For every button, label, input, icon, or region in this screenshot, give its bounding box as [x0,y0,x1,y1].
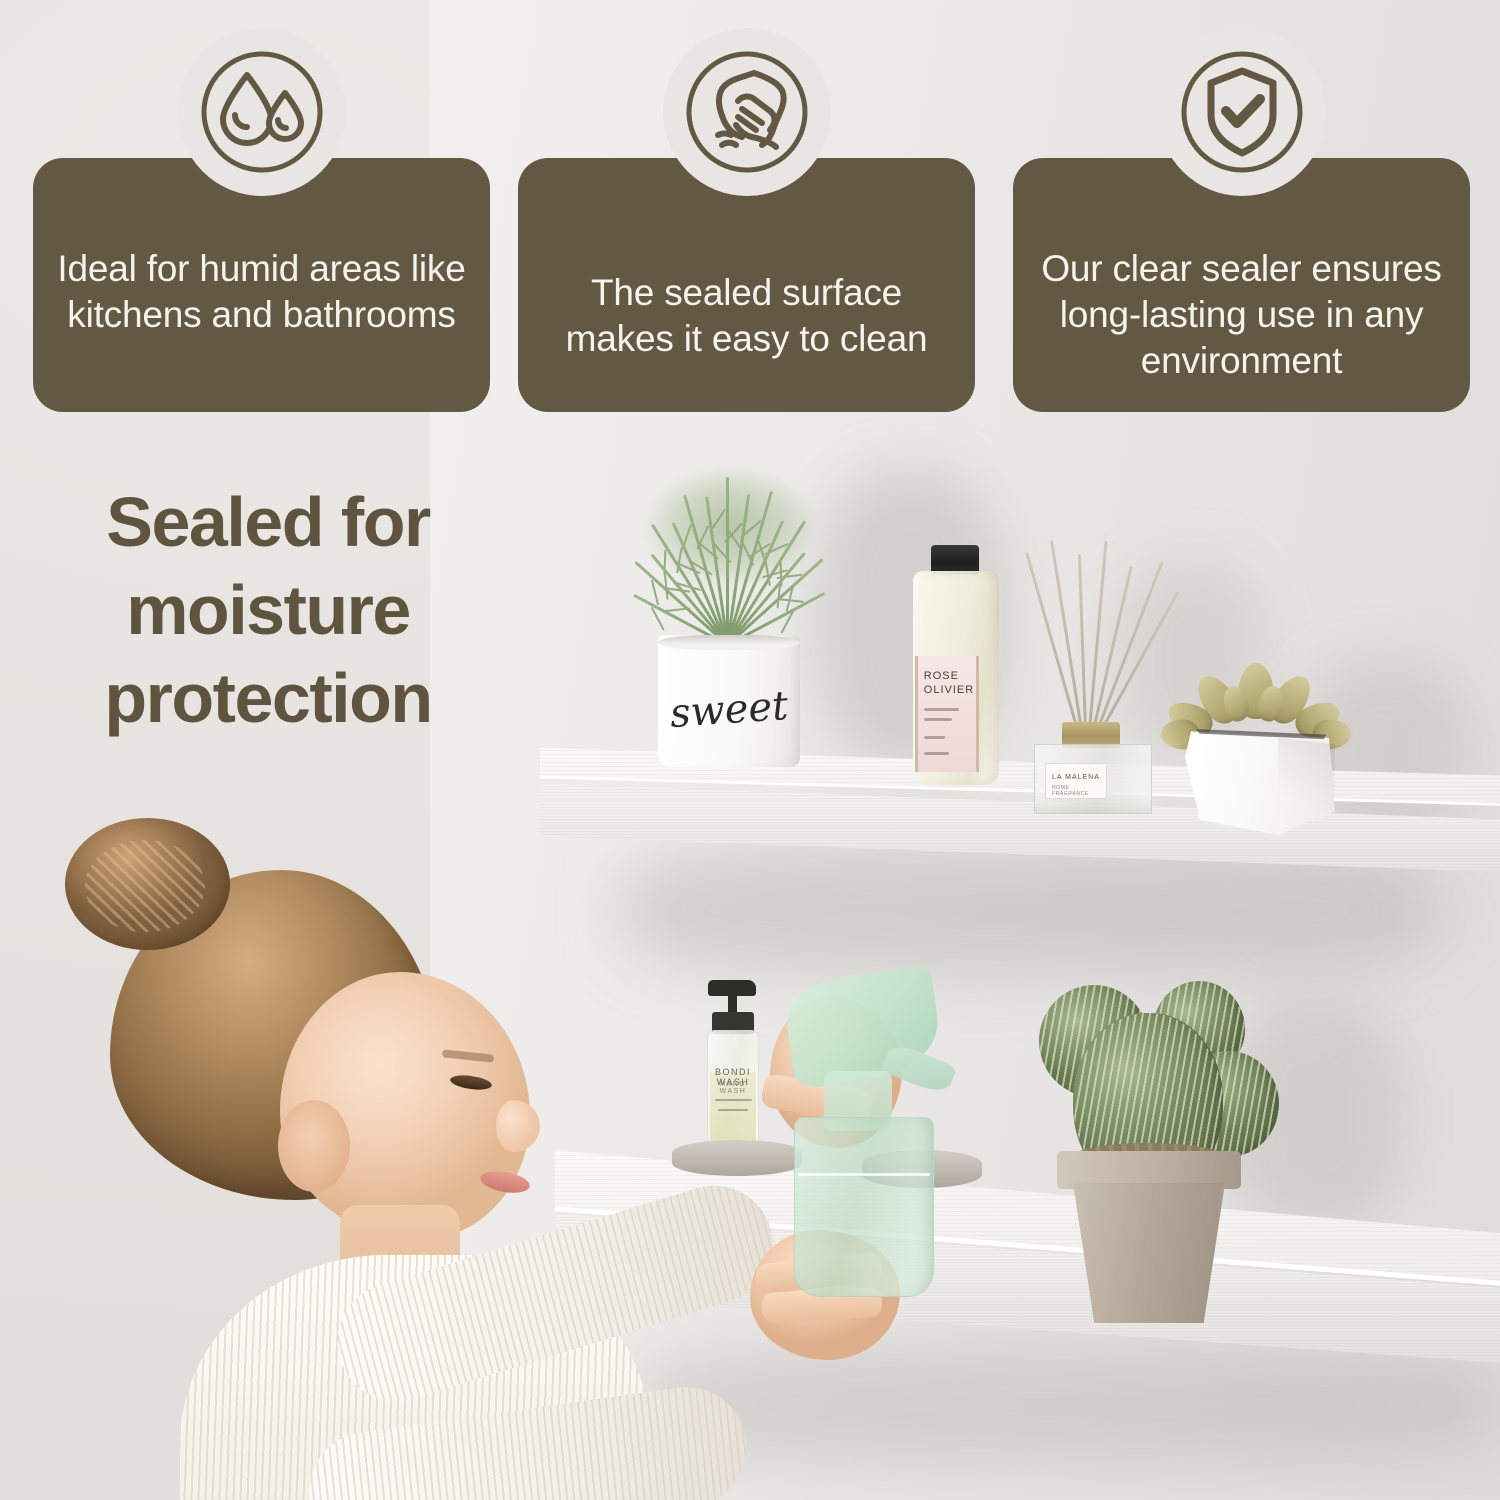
diffuser-reeds [1010,530,1180,730]
diffuser-glass-base: LA MALENA HOME FRAGRANCE [1034,744,1152,814]
feature-card-easy-clean-text: The sealed surface makes it easy to clea… [534,270,959,362]
feature-card-humidity[interactable]: Ideal for humid areas like kitchens and … [33,158,490,412]
bottle-label-title: ROSE [924,670,959,682]
fern-pot-rim [658,635,800,650]
child-nose [496,1100,540,1152]
child-ear [278,1100,350,1192]
potted-fern: sweet [600,440,860,770]
feature-card-durability-text: Our clear sealer ensures long-lasting us… [1029,246,1454,384]
amber-bottle: ROSE OLIVIER [905,545,1005,785]
feature-cards-row: Ideal for humid areas like kitchens and … [0,0,1500,430]
feature-card-humidity-text: Ideal for humid areas like kitchens and … [49,246,474,338]
fern-foliage [600,440,860,645]
child-bun-wrap [85,840,205,932]
water-droplets-icon [178,28,346,196]
feature-card-easy-clean[interactable]: The sealed surface makes it easy to clea… [518,158,975,412]
geometric-succulent [1175,655,1340,835]
reed-diffuser: LA MALENA HOME FRAGRANCE [1010,530,1180,795]
page-title: Sealed for moisture protection [28,478,508,742]
bottle-label-title-2: OLIVIER [924,684,974,696]
fern-pot: sweet [658,635,800,767]
hand-wiping-cloth-icon [663,28,831,196]
fern-pot-script-text: sweet [657,682,802,738]
fern-canopy-blur [608,446,852,622]
feature-card-durability[interactable]: Our clear sealer ensures long-lasting us… [1013,158,1470,412]
spray-bottle [780,975,950,1305]
spray-liquid-line [798,1173,930,1176]
shield-check-icon [1158,28,1326,196]
child [10,800,910,1500]
bottle-label: ROSE OLIVIER [915,656,979,772]
diffuser-label: LA MALENA HOME FRAGRANCE [1045,763,1107,799]
spray-bottle-body [794,1117,934,1297]
bottle-body: ROSE OLIVIER [913,571,999,785]
cactus-pot-body [1073,1183,1225,1323]
succulent-geometric-pot [1185,727,1335,835]
barrel-cactus [1025,965,1285,1365]
